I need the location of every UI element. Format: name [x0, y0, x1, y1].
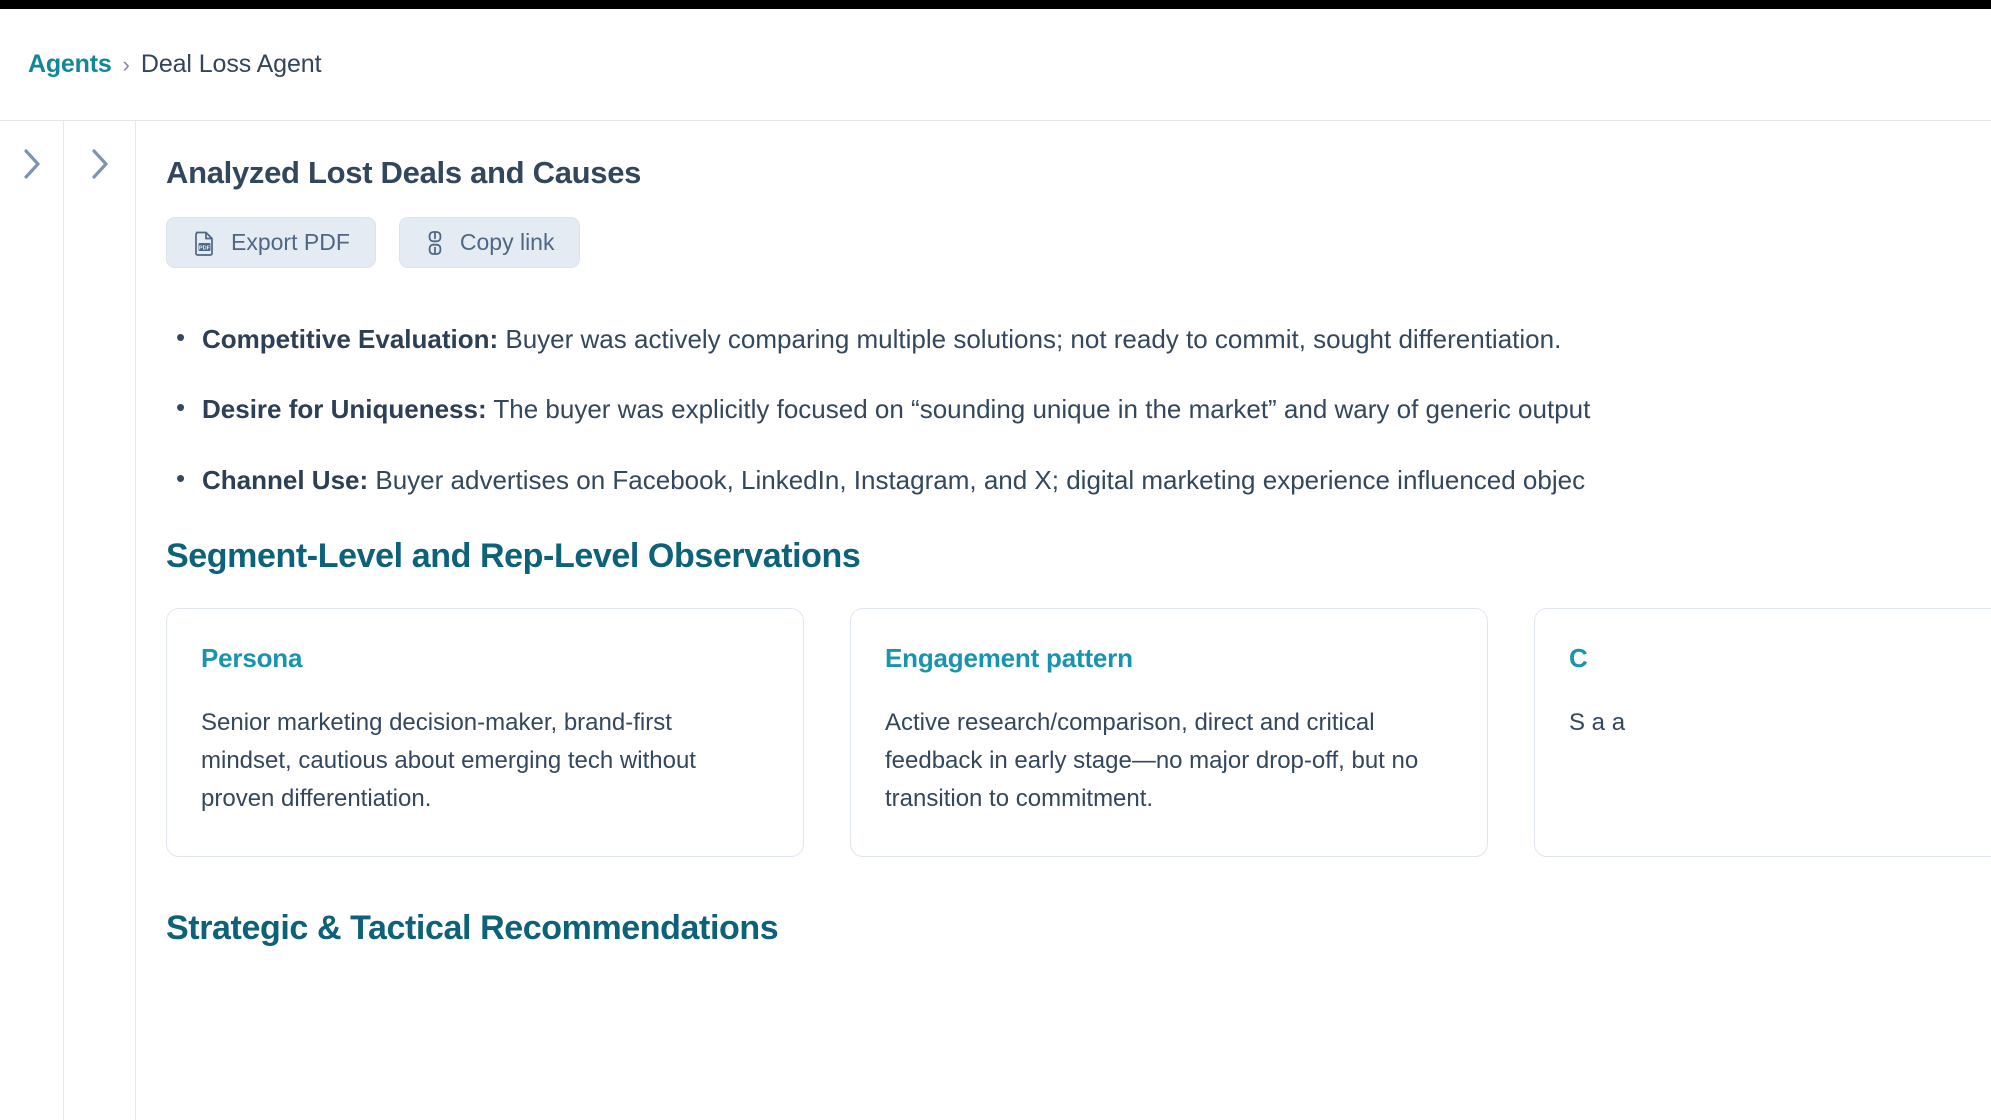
list-item: Channel Use: Buyer advertises on Faceboo… [202, 463, 1991, 497]
top-black-strip [0, 0, 1991, 9]
nav-rail-outer [0, 121, 64, 1120]
card-title: Engagement pattern [885, 643, 1453, 674]
svg-text:PDF: PDF [199, 245, 211, 251]
list-item-text: Buyer advertises on Facebook, LinkedIn, … [368, 465, 1585, 495]
chevron-right-icon-inner[interactable] [85, 149, 115, 179]
card-body: Active research/comparison, direct and c… [885, 704, 1453, 818]
card-title: C [1569, 643, 1991, 674]
link-icon [425, 230, 445, 256]
section-heading-observations: Segment-Level and Rep-Level Observations [166, 537, 1991, 576]
list-item: Desire for Uniqueness: The buyer was exp… [202, 392, 1991, 426]
export-pdf-button[interactable]: PDF Export PDF [166, 217, 376, 268]
list-item-term: Desire for Uniqueness: [202, 394, 487, 424]
list-item: Competitive Evaluation: Buyer was active… [202, 322, 1991, 356]
copy-link-label: Copy link [460, 229, 555, 256]
list-item-term: Competitive Evaluation: [202, 324, 498, 354]
card-body: S a a [1569, 704, 1991, 742]
list-item-text: The buyer was explicitly focused on “sou… [487, 394, 1591, 424]
page-title: Analyzed Lost Deals and Causes [166, 155, 1991, 191]
export-pdf-label: Export PDF [231, 229, 350, 256]
document-actions: PDF Export PDF Copy link [166, 217, 1991, 268]
card-engagement-pattern: Engagement pattern Active research/compa… [850, 608, 1488, 857]
card-persona: Persona Senior marketing decision-maker,… [166, 608, 804, 857]
card-third-clipped: C S a a [1534, 608, 1991, 857]
card-body: Senior marketing decision-maker, brand-f… [201, 704, 769, 818]
card-title: Persona [201, 643, 769, 674]
breadcrumb-link-agents[interactable]: Agents [28, 50, 112, 79]
body-row: Analyzed Lost Deals and Causes PDF Expor… [0, 121, 1991, 1120]
document-content: Analyzed Lost Deals and Causes PDF Expor… [136, 121, 1991, 1120]
nav-rail-inner [64, 121, 136, 1120]
breadcrumb: Agents › Deal Loss Agent [28, 50, 321, 79]
breadcrumb-current-deal-loss-agent: Deal Loss Agent [141, 50, 322, 79]
copy-link-button[interactable]: Copy link [399, 217, 581, 268]
list-item-text: Buyer was actively comparing multiple so… [498, 324, 1561, 354]
list-item-term: Channel Use: [202, 465, 368, 495]
breadcrumb-bar: Agents › Deal Loss Agent [0, 9, 1991, 121]
chevron-right-icon-outer[interactable] [17, 149, 47, 179]
breadcrumb-separator-icon: › [123, 52, 130, 78]
pdf-file-icon: PDF [192, 230, 216, 256]
app-window: Agents › Deal Loss Agent Analyzed Lost D… [0, 0, 1991, 1120]
findings-list: Competitive Evaluation: Buyer was active… [166, 322, 1991, 497]
observation-cards: Persona Senior marketing decision-maker,… [166, 608, 1991, 857]
section-heading-recommendations: Strategic & Tactical Recommendations [166, 909, 1991, 948]
